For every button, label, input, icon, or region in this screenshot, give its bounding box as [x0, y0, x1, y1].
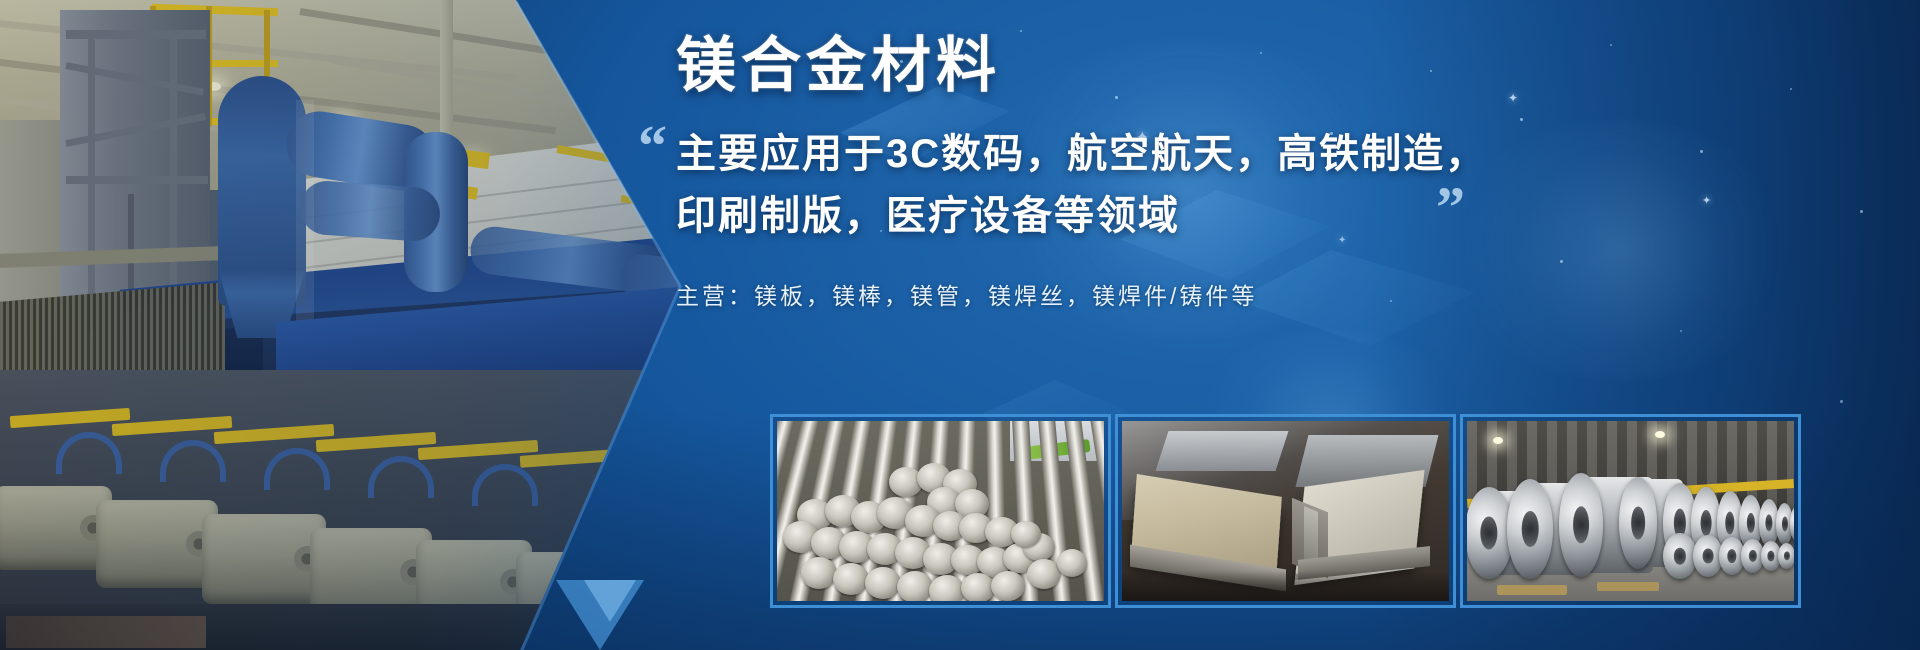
magnesium-coils-thumbnail[interactable]: [1460, 414, 1801, 608]
banner-copy: 镁合金材料 “ ” 主要应用于3C数码，航空航天，高铁制造， 印刷制版，医疗设备…: [676, 34, 1856, 311]
quote-open-icon: “: [638, 117, 667, 175]
magnesium-plates-thumbnail[interactable]: [1115, 414, 1456, 608]
down-arrow-icon: [584, 580, 636, 622]
quote-close-icon: ”: [1436, 179, 1465, 237]
magnesium-bars-thumbnail[interactable]: [770, 414, 1111, 608]
product-thumbnail-gallery: [770, 414, 1801, 608]
banner-subtitle-line-2: 印刷制版，医疗设备等领域: [676, 185, 1856, 247]
banner-tagline: 主营：镁板，镁棒，镁管，镁焊丝，镁焊件/铸件等: [676, 277, 1856, 311]
product-banner: ✦ ✦ ✦ ✦: [0, 0, 1920, 650]
banner-subtitle-line-1: 主要应用于3C数码，航空航天，高铁制造，: [676, 123, 1856, 185]
quote-block: “ ” 主要应用于3C数码，航空航天，高铁制造， 印刷制版，医疗设备等领域: [676, 123, 1856, 247]
banner-title: 镁合金材料: [676, 34, 1856, 97]
